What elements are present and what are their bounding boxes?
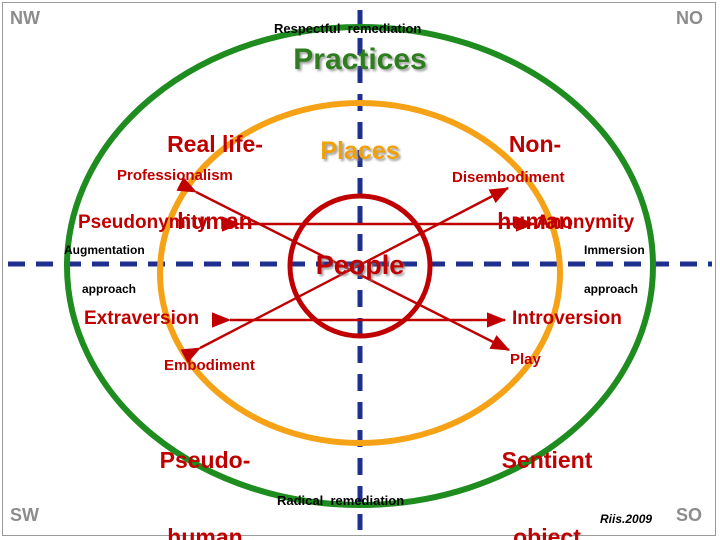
quadrant-label-nw-line1: Real life-	[120, 132, 310, 158]
practices-ring-title: Practices	[260, 43, 460, 77]
diagonal-label-play: Play	[510, 352, 541, 369]
diagonal-label-embodiment: Embodiment	[164, 358, 255, 375]
corner-label-nw: NW	[10, 8, 40, 28]
quadrant-label-se-line1: Sentient	[452, 448, 642, 474]
approach-label-immersion-line1: Immersion	[584, 244, 645, 257]
quadrant-label-sw: Pseudo- human	[110, 396, 300, 540]
corner-label-sw: SW	[10, 505, 39, 525]
signature-label: Riis.2009	[600, 513, 652, 526]
approach-label-augmentation-line2: approach	[82, 283, 136, 296]
axis-label-extraversion: Extraversion	[84, 308, 199, 329]
diagonal-label-disembodiment: Disembodiment	[452, 170, 565, 187]
axis-label-anonymity: Anonymity	[536, 212, 634, 233]
corner-label-se: SO	[676, 505, 702, 525]
diagram-canvas: NW NO SW SO Respectful remediation Radic…	[0, 0, 720, 540]
quadrant-label-ne-line1: Non-	[440, 132, 630, 158]
diagonal-label-professionalism: Professionalism	[117, 168, 233, 185]
approach-label-augmentation-line1: Augmentation	[64, 244, 145, 257]
approach-label-immersion-line2: approach	[584, 283, 638, 296]
axis-label-introversion: Introversion	[512, 308, 622, 329]
quadrant-label-sw-line2: human	[110, 525, 300, 540]
remediation-top-label: Respectful remediation	[274, 22, 421, 37]
quadrant-label-sw-line1: Pseudo-	[110, 448, 300, 474]
corner-label-ne: NO	[676, 8, 703, 28]
axis-label-pseudonymity: Pseudonymity	[78, 212, 208, 233]
quadrant-label-se-line2: object	[452, 525, 642, 540]
